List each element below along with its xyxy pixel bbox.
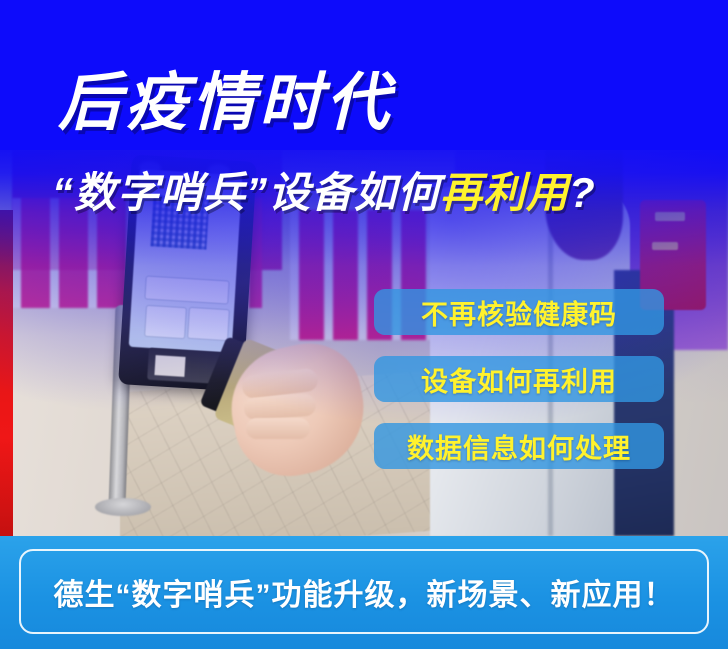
subtitle-highlight: 再利用 <box>440 169 569 216</box>
question-pill-list: 不再核验健康码 设备如何再利用 数据信息如何处理 <box>374 289 664 469</box>
question-pill-2[interactable]: 设备如何再利用 <box>374 356 664 402</box>
question-pill-2-label: 设备如何再利用 <box>421 360 617 399</box>
bottom-banner-box: 德生“数字哨兵”功能升级，新场景、新应用！ <box>19 549 709 634</box>
page-title: 后疫情时代 <box>58 72 393 135</box>
subtitle-tail: ? <box>569 169 596 216</box>
bottom-banner-text: 德生“数字哨兵”功能升级，新场景、新应用！ <box>54 570 675 614</box>
question-pill-3[interactable]: 数据信息如何处理 <box>374 423 664 469</box>
question-pill-1-label: 不再核验健康码 <box>421 293 617 332</box>
page-subtitle: “数字哨兵”设备如何再利用? <box>52 172 596 214</box>
poster-root: 后疫情时代 “数字哨兵”设备如何再利用? 不再核验健康码 设备如何再利用 数据信… <box>0 0 728 649</box>
question-pill-1[interactable]: 不再核验健康码 <box>374 289 664 335</box>
subtitle-lead: “数字哨兵”设备如何 <box>52 169 440 216</box>
bottom-banner: 德生“数字哨兵”功能升级，新场景、新应用！ <box>0 536 728 649</box>
question-pill-3-label: 数据信息如何处理 <box>407 427 631 466</box>
